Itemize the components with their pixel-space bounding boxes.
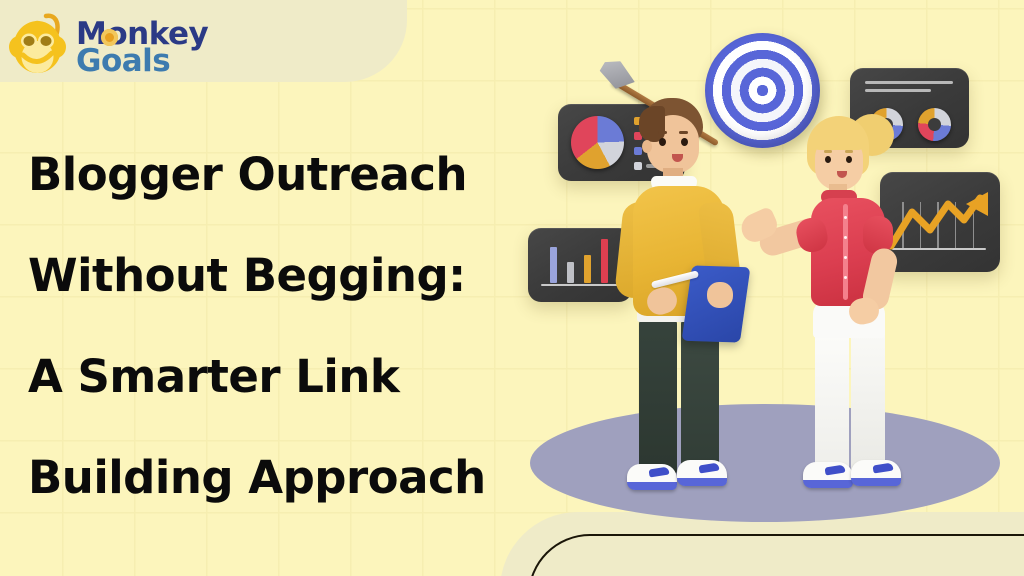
brand-name-goals: Goals xyxy=(76,49,208,74)
target-dot-icon xyxy=(101,29,118,46)
woman-leg-left xyxy=(815,326,849,478)
woman-shoe-right xyxy=(851,460,901,486)
shoe-stripe xyxy=(698,462,719,473)
blouse-button xyxy=(844,256,847,259)
page-title: Blogger Outreach Without Begging: A Smar… xyxy=(28,124,528,528)
woman-eye-left xyxy=(825,156,831,163)
brand-wordmark: Monkey Goals xyxy=(76,22,208,75)
headline-line-4: Building Approach xyxy=(28,427,528,528)
man-ear xyxy=(642,140,652,153)
headline-line-1: Blogger Outreach xyxy=(28,124,528,225)
woman-eye-right xyxy=(846,156,852,163)
man-shoe-left xyxy=(627,464,677,490)
woman-shoe-left xyxy=(803,462,853,488)
bar-2 xyxy=(567,262,574,283)
headline-line-3: A Smarter Link xyxy=(28,326,528,427)
monkey-face-icon xyxy=(8,11,76,85)
bar-3 xyxy=(584,255,591,283)
woman-eyebrow-left xyxy=(824,150,832,153)
man-shoe-right xyxy=(677,460,727,486)
woman-hair-fringe xyxy=(812,128,864,150)
headline-line-2: Without Begging: xyxy=(28,225,528,326)
bar-1 xyxy=(550,247,557,283)
man-leg-left xyxy=(639,318,677,478)
man-hand-right xyxy=(707,282,733,308)
blouse-button xyxy=(844,276,847,279)
shoe-stripe xyxy=(648,466,669,477)
man-character xyxy=(615,98,755,478)
woman-character xyxy=(793,112,938,474)
man-eye-right xyxy=(681,138,688,146)
man-eyebrow-right xyxy=(679,131,688,134)
blouse-button xyxy=(844,236,847,239)
shoe-stripe xyxy=(824,464,845,475)
hero-illustration xyxy=(505,0,1024,576)
man-eyebrow-left xyxy=(658,131,667,134)
banner-canvas: Monkey Goals Blogger Outreach Without Be… xyxy=(0,0,1024,576)
donut-panel-text-lines xyxy=(865,81,953,97)
brand-logo[interactable]: Monkey Goals xyxy=(8,8,218,88)
brand-name-monkey: Monkey xyxy=(76,22,208,47)
man-hair-front xyxy=(639,106,665,142)
shoe-stripe xyxy=(872,462,893,473)
placeholder-line xyxy=(865,89,931,92)
bar-chart xyxy=(550,239,608,283)
man-eye-left xyxy=(659,138,666,146)
man-leg-right xyxy=(681,318,719,478)
woman-leg-right xyxy=(851,326,885,478)
bar-chart-axis xyxy=(541,284,619,287)
woman-eyebrow-right xyxy=(845,150,853,153)
placeholder-line xyxy=(865,81,953,84)
bar-4 xyxy=(601,239,608,283)
blouse-button xyxy=(844,216,847,219)
